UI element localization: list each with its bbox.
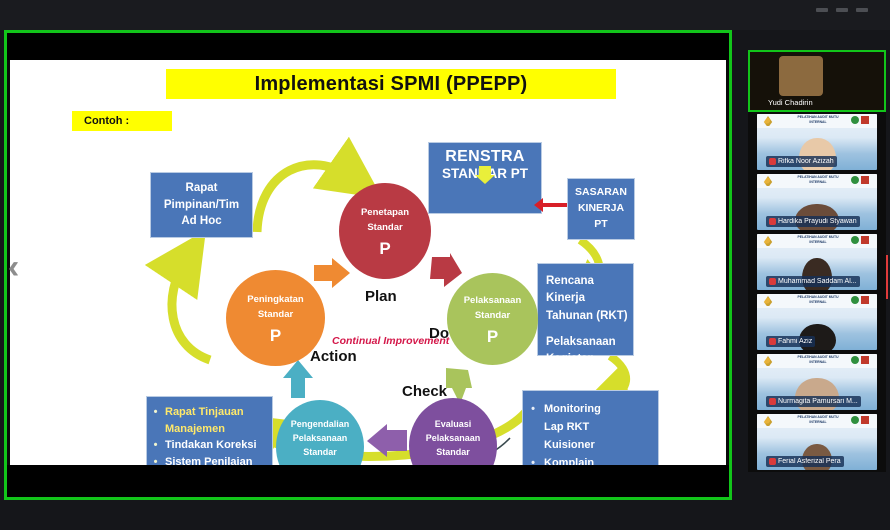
sasaran-line-3: PT: [594, 217, 607, 233]
bg-title: PELATIHAN AUDIT MUTU INTERNAL: [791, 175, 845, 185]
share-letterbox-bottom: [7, 465, 729, 497]
badge-red-icon: [861, 116, 869, 124]
badge-red-icon: [861, 236, 869, 244]
peningkatan-name: Peningkatan: [226, 292, 325, 307]
participant-video: PELATIHAN AUDIT MUTU INTERNALNurmagita P…: [757, 354, 877, 410]
mic-muted-icon: [769, 158, 776, 165]
participant-strip[interactable]: Yudi ChadirinPELATIHAN AUDIT MUTU INTERN…: [748, 50, 886, 480]
participant-name: Rifka Noor Azizah: [778, 158, 834, 165]
badge-red-icon: [861, 356, 869, 364]
participant-name: Ferial Asferizal Pera: [778, 458, 841, 465]
list-item: •Tindakan Koreksi: [152, 437, 272, 454]
list-item: •Monitoring: [529, 400, 658, 418]
monitoring-item-1: Monitoring: [544, 400, 601, 418]
badge-green-icon: [851, 176, 859, 184]
rencana-line-1: Rencana Kinerja: [546, 273, 633, 308]
bg-title: PELATIHAN AUDIT MUTU INTERNAL: [791, 415, 845, 425]
participant-name: Nurmagita Pamursari M...: [778, 398, 858, 405]
bg-title: PELATIHAN AUDIT MUTU INTERNAL: [791, 295, 845, 305]
box-monitoring: •Monitoring Lap RKT Kuisioner •Komplain …: [522, 390, 659, 465]
mic-muted-icon: [769, 278, 776, 285]
participant-nameplate: Fahmi Aziz: [766, 336, 815, 347]
penetapan-name: Penetapan: [339, 205, 431, 220]
participant-nameplate: Yudi Chadirin: [765, 97, 816, 108]
mic-muted-icon: [769, 458, 776, 465]
avatar: [779, 56, 823, 96]
box-rapat-line-1: Rapat: [186, 180, 218, 197]
label-check: Check: [402, 383, 447, 400]
tinjauan-item-2: Manajemen: [165, 421, 225, 438]
list-item: •Komplain: [529, 454, 658, 465]
mic-muted-icon: [769, 218, 776, 225]
pengendalian-letter: P: [276, 462, 364, 465]
participant-video: PELATIHAN AUDIT MUTU INTERNALHardika Pra…: [757, 174, 877, 230]
list-item: •Rapat Tinjauan: [152, 404, 272, 421]
participant-tile[interactable]: PELATIHAN AUDIT MUTU INTERNALMuhammad Sa…: [748, 232, 886, 292]
box-rapat-tinjauan: •Rapat Tinjauan Manajemen •Tindakan Kore…: [146, 396, 273, 465]
meeting-window: Implementasi SPMI (PPEPP) Contoh :: [0, 0, 890, 530]
participant-tile[interactable]: PELATIHAN AUDIT MUTU INTERNALHardika Pra…: [748, 172, 886, 232]
participant-video: PELATIHAN AUDIT MUTU INTERNALFerial Asfe…: [757, 414, 877, 470]
chevron-red-icon: [428, 253, 464, 289]
badge-green-icon: [851, 296, 859, 304]
list-item: •Sistem Penilaian: [152, 454, 272, 466]
participant-nameplate: Rifka Noor Azizah: [766, 156, 837, 167]
presentation-slide: Implementasi SPMI (PPEPP) Contoh :: [10, 60, 726, 465]
badge-red-icon: [861, 296, 869, 304]
curve-arrow-peningkatan-to-rapat: [172, 260, 210, 360]
bg-title: PELATIHAN AUDIT MUTU INTERNAL: [791, 115, 845, 125]
monitoring-item-4: Komplain: [544, 454, 594, 465]
penetapan-name2: Standar: [339, 220, 431, 235]
peningkatan-letter: P: [226, 326, 325, 346]
rencana-line-4: Kegiatan: [546, 351, 633, 368]
participant-video: PELATIHAN AUDIT MUTU INTERNALFahmi Aziz: [757, 294, 877, 350]
participant-video: PELATIHAN AUDIT MUTU INTERNALRifka Noor …: [757, 114, 877, 170]
box-rapat-line-3: Ad Hoc: [181, 213, 221, 230]
label-continual-improvement: Continual Improvement: [332, 335, 449, 347]
penetapan-letter: P: [339, 239, 431, 259]
pengendalian-line-1: Pengendalian: [276, 416, 364, 430]
badge-green-icon: [851, 116, 859, 124]
evaluasi-line-3: Standar: [409, 444, 497, 458]
mic-muted-icon: [769, 398, 776, 405]
participant-tile[interactable]: Yudi Chadirin: [748, 50, 886, 112]
participant-nameplate: Ferial Asferizal Pera: [766, 456, 844, 467]
ellipse-pelaksanaan-standar: Pelaksanaan Standar P: [447, 273, 538, 365]
pelaksanaan-name2: Standar: [447, 308, 538, 323]
monitoring-item-3: Kuisioner: [544, 436, 595, 454]
tinjauan-item-4: Sistem Penilaian: [165, 454, 252, 466]
rencana-line-2: Tahunan (RKT): [546, 308, 633, 325]
tinjauan-item-3: Tindakan Koreksi: [165, 437, 257, 454]
peningkatan-name2: Standar: [226, 307, 325, 322]
badge-red-icon: [861, 176, 869, 184]
bg-title: PELATIHAN AUDIT MUTU INTERNAL: [791, 235, 845, 245]
box-renstra: RENSTRA STANDAR PT: [428, 142, 542, 214]
sasaran-line-1: SASARAN: [575, 185, 627, 201]
rencana-line-3: Pelaksanaan: [546, 334, 633, 351]
shared-screen[interactable]: Implementasi SPMI (PPEPP) Contoh :: [4, 30, 732, 500]
evaluasi-line-1: Evaluasi: [409, 416, 497, 430]
monitoring-item-2: Lap RKT: [544, 418, 589, 436]
badge-green-icon: [851, 236, 859, 244]
label-plan: Plan: [365, 288, 397, 305]
chevron-orange-icon: [312, 256, 352, 290]
pengendalian-line-2: Pelaksanaan: [276, 430, 364, 444]
participant-video: Yudi Chadirin: [759, 54, 879, 110]
title-bar: [0, 0, 890, 30]
participant-nameplate: Muhammad Saddam Al...: [766, 276, 860, 287]
participant-tile[interactable]: PELATIHAN AUDIT MUTU INTERNALFerial Asfe…: [748, 412, 886, 472]
box-sasaran-kinerja: SASARAN KINERJA PT: [567, 178, 635, 240]
list-item: Lap RKT: [529, 418, 658, 436]
ellipse-penetapan-standar: Penetapan Standar P: [339, 183, 431, 279]
box-rapat-pimpinan: Rapat Pimpinan/Tim Ad Hoc: [150, 172, 253, 238]
participant-tile[interactable]: PELATIHAN AUDIT MUTU INTERNALFahmi Aziz: [748, 292, 886, 352]
participant-video: PELATIHAN AUDIT MUTU INTERNALMuhammad Sa…: [757, 234, 877, 290]
menu-dots-icon[interactable]: [816, 8, 868, 12]
participant-name: Hardika Prayudi Styawan: [778, 218, 857, 225]
participant-name: Fahmi Aziz: [778, 338, 812, 345]
previous-page-icon[interactable]: ‹: [8, 250, 19, 284]
badge-green-icon: [851, 416, 859, 424]
participant-name: Muhammad Saddam Al...: [778, 278, 857, 285]
pengendalian-line-3: Standar: [276, 444, 364, 458]
box-rapat-line-2: Pimpinan/Tim: [164, 197, 239, 214]
share-letterbox-top: [7, 33, 729, 60]
list-item: Kuisioner: [529, 436, 658, 454]
evaluasi-line-2: Pelaksanaan: [409, 430, 497, 444]
pelaksanaan-letter: P: [447, 327, 538, 347]
mic-muted-icon: [769, 338, 776, 345]
badge-red-icon: [861, 416, 869, 424]
double-arrow-red-icon: [543, 203, 569, 207]
bg-title: PELATIHAN AUDIT MUTU INTERNAL: [791, 355, 845, 365]
evaluasi-letter: E: [409, 462, 497, 465]
pelaksanaan-name: Pelaksanaan: [447, 293, 538, 308]
participant-nameplate: Nurmagita Pamursari M...: [766, 396, 861, 407]
participant-tile[interactable]: PELATIHAN AUDIT MUTU INTERNALNurmagita P…: [748, 352, 886, 412]
sasaran-line-2: KINERJA: [578, 201, 624, 217]
label-action: Action: [310, 348, 357, 365]
participant-nameplate: Hardika Prayudi Styawan: [766, 216, 860, 227]
tinjauan-item-1: Rapat Tinjauan: [165, 404, 244, 421]
box-rencana-kinerja: Rencana Kinerja Tahunan (RKT) Pelaksanaa…: [537, 263, 634, 356]
participant-name: Yudi Chadirin: [768, 98, 813, 107]
participant-tile[interactable]: PELATIHAN AUDIT MUTU INTERNALRifka Noor …: [748, 112, 886, 172]
renstra-label: RENSTRA: [429, 148, 541, 166]
badge-green-icon: [851, 356, 859, 364]
chevron-purple-icon: [363, 424, 409, 458]
list-item: Manajemen: [152, 421, 272, 438]
